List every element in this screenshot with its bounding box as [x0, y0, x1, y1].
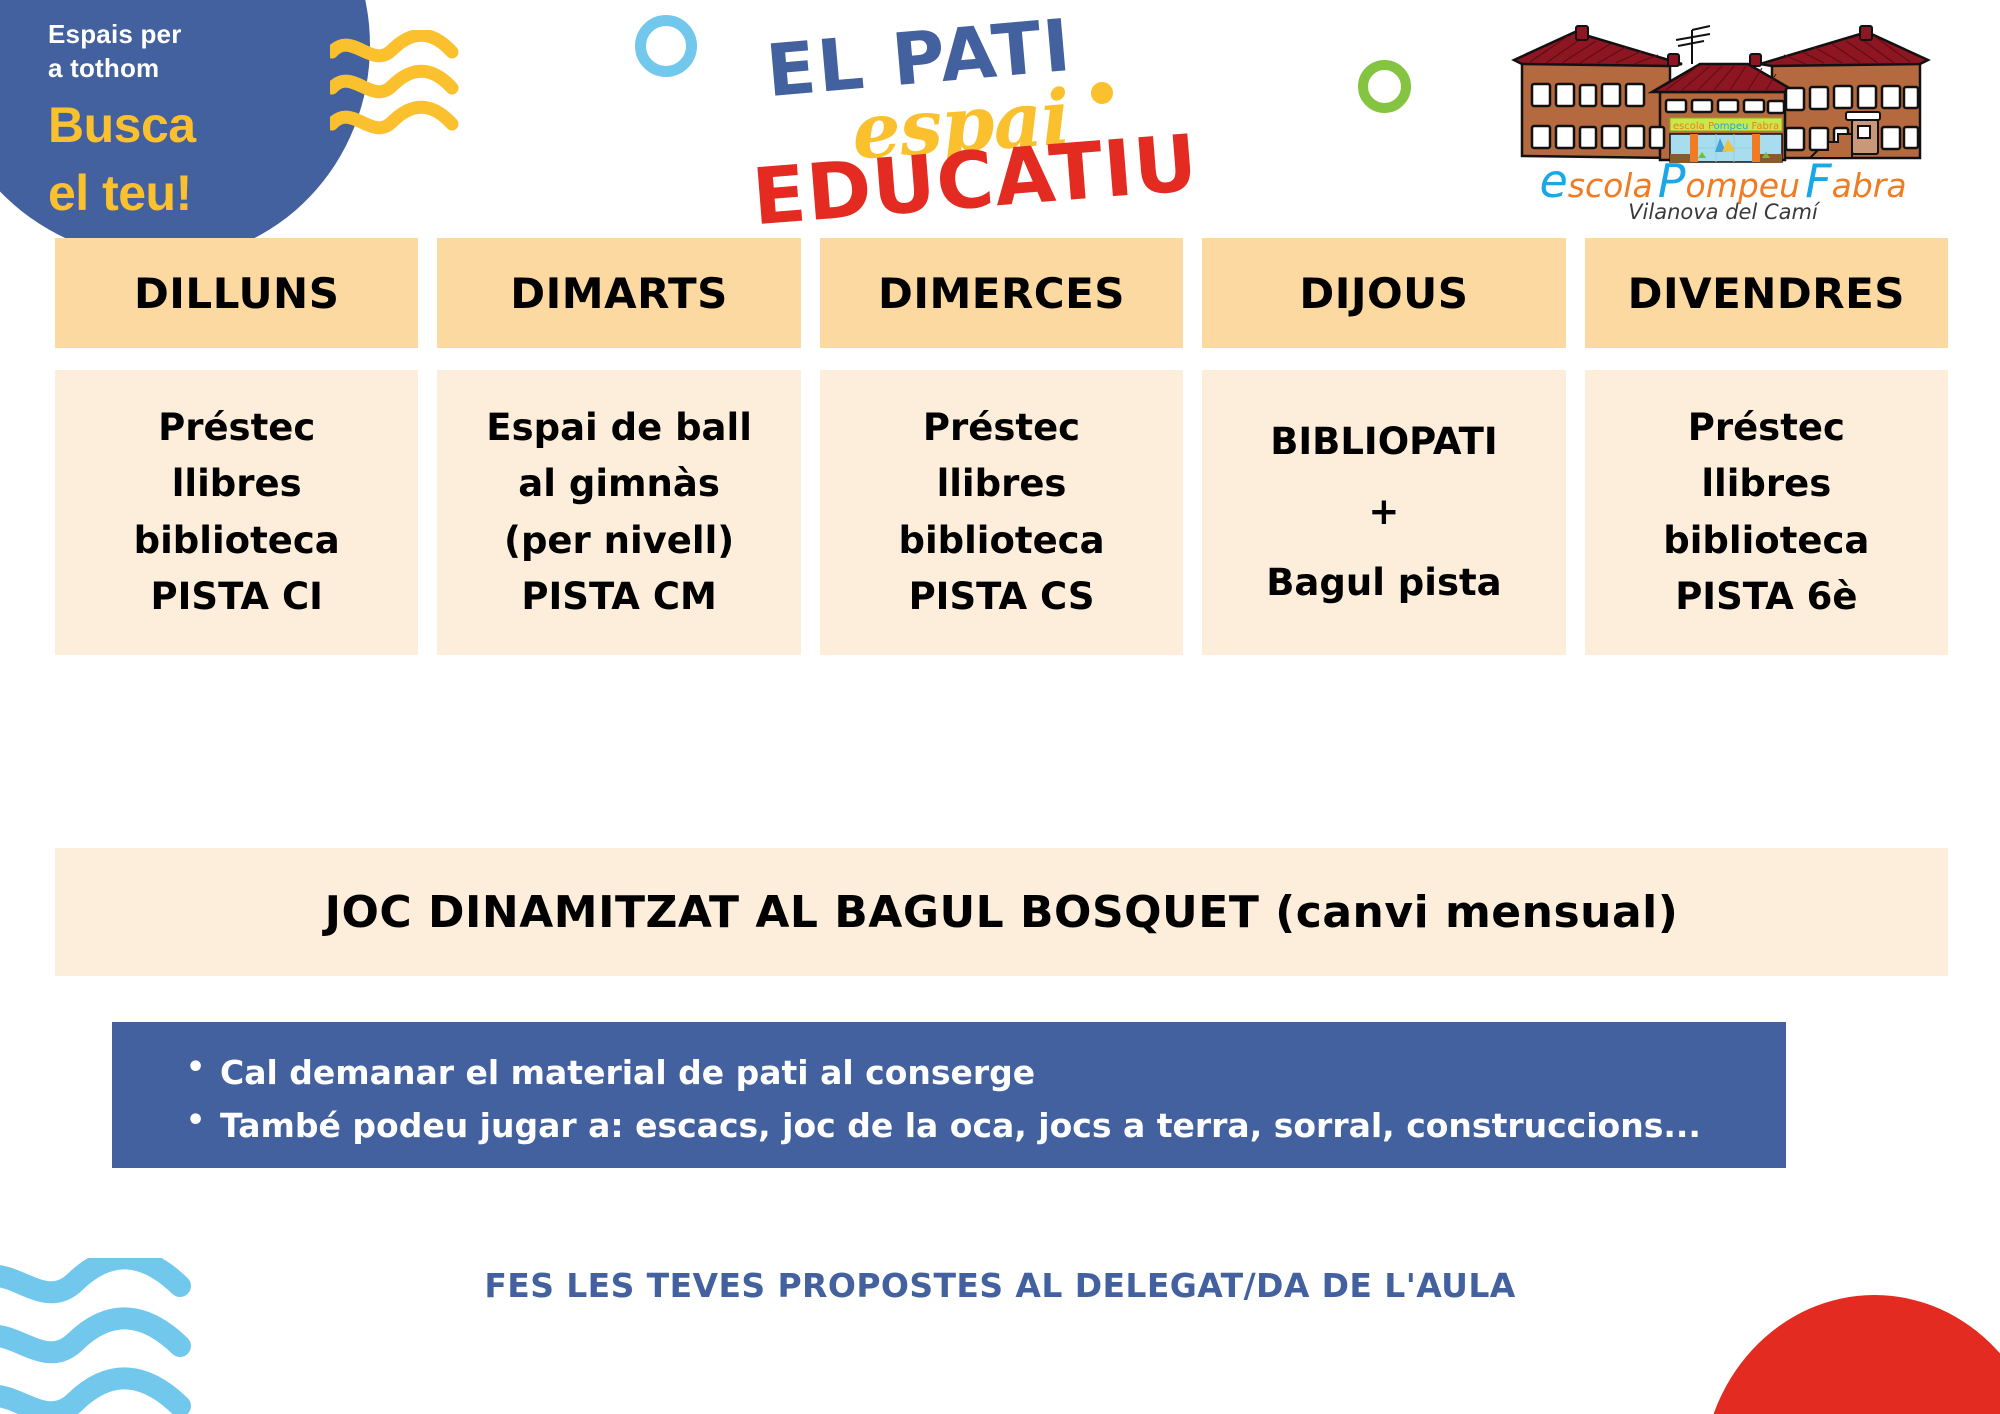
activity-line: biblioteca — [134, 513, 340, 569]
activity-line: biblioteca — [1663, 513, 1869, 569]
activity-line: (per nivell) — [486, 513, 752, 569]
activity-line: biblioteca — [898, 513, 1104, 569]
day-header-dimarts: DIMARTS — [437, 238, 800, 348]
weekly-schedule-grid: DILLUNS DIMARTS DIMERCES DIJOUS DIVENDRE… — [55, 238, 1948, 655]
footer-text: FES LES TEVES PROPOSTES AL DELEGAT/DA DE… — [484, 1266, 1515, 1305]
activity-line: Bagul pista — [1266, 548, 1501, 618]
day-header-dijous: DIJOUS — [1202, 238, 1565, 348]
school-logo: escola Pompeu Fabra — [1500, 8, 1940, 223]
activity-lines: Préstec llibres biblioteca PISTA CI — [134, 400, 340, 625]
day-header-label: DIMARTS — [510, 269, 728, 318]
building-sign-text: escola Pompeu Fabra — [1673, 121, 1779, 132]
day-header-label: DILLUNS — [134, 269, 340, 318]
activity-cell-dilluns: Préstec llibres biblioteca PISTA CI — [55, 370, 418, 655]
intro-caption: Espais per a tothom Busca el teu! — [48, 18, 328, 225]
activity-line: Espai de ball — [486, 400, 752, 456]
activity-line: PISTA 6è — [1663, 569, 1869, 625]
activity-lines: Préstec llibres biblioteca PISTA 6è — [1663, 400, 1869, 625]
activity-line: Préstec — [1663, 400, 1869, 456]
activity-lines: BIBLIOPATI + Bagul pista — [1266, 407, 1501, 618]
banner-text: JOC DINAMITZAT AL BAGUL BOSQUET (canvi m… — [325, 887, 1679, 938]
activity-line: PISTA CM — [486, 569, 752, 625]
activity-lines: Espai de ball al gimnàs (per nivell) PIS… — [486, 400, 752, 625]
poster-title: EL PATI espai EDUCATIU — [760, 8, 1230, 223]
logo-subtitle: Vilanova del Camí — [1508, 200, 1938, 224]
activity-line: PISTA CS — [898, 569, 1104, 625]
yellow-squiggle-icon — [330, 30, 520, 140]
schedule-activity-row: Préstec llibres biblioteca PISTA CI Espa… — [55, 370, 1948, 655]
day-header-divendres: DIVENDRES — [1585, 238, 1948, 348]
activity-line: llibres — [898, 456, 1104, 512]
list-item: També podeu jugar a: escacs, joc de la o… — [186, 1099, 1786, 1152]
notes-list: Cal demanar el material de pati al conse… — [112, 1046, 1786, 1153]
day-header-label: DIVENDRES — [1628, 269, 1905, 318]
blue-ring-icon — [635, 15, 697, 77]
intro-line-1: Espais per — [48, 19, 182, 49]
activity-cell-divendres: Préstec llibres biblioteca PISTA 6è — [1585, 370, 1948, 655]
notes-box: Cal demanar el material de pati al conse… — [112, 1022, 1786, 1168]
red-dome-decoration — [1702, 1295, 2000, 1414]
activity-cell-dimerces: Préstec llibres biblioteca PISTA CS — [820, 370, 1183, 655]
day-header-label: DIJOUS — [1299, 269, 1468, 318]
joc-dinamitzat-banner: JOC DINAMITZAT AL BAGUL BOSQUET (canvi m… — [55, 848, 1948, 976]
day-header-label: DIMERCES — [878, 269, 1125, 318]
activity-line: Préstec — [134, 400, 340, 456]
activity-line: + — [1266, 477, 1501, 547]
activity-line: al gimnàs — [486, 456, 752, 512]
intro-highlight-2: el teu! — [48, 162, 328, 225]
intro-highlight-1: Busca — [48, 97, 196, 153]
poster-canvas: Espais per a tothom Busca el teu! EL PAT… — [0, 0, 2000, 1414]
intro-line-2: a tothom — [48, 53, 159, 83]
schedule-header-row: DILLUNS DIMARTS DIMERCES DIJOUS DIVENDRE… — [55, 238, 1948, 348]
school-building-icon: escola Pompeu Fabra — [1500, 8, 1940, 168]
activity-cell-dimarts: Espai de ball al gimnàs (per nivell) PIS… — [437, 370, 800, 655]
day-header-dimerces: DIMERCES — [820, 238, 1183, 348]
blue-waves-decoration — [0, 1258, 350, 1414]
activity-line: llibres — [1663, 456, 1869, 512]
activity-line: llibres — [134, 456, 340, 512]
day-header-dilluns: DILLUNS — [55, 238, 418, 348]
activity-line: BIBLIOPATI — [1266, 407, 1501, 477]
title-dot-icon — [1090, 81, 1114, 105]
title-line-educatiu: EDUCATIU — [749, 119, 1201, 244]
activity-cell-dijous: BIBLIOPATI + Bagul pista — [1202, 370, 1565, 655]
green-ring-icon — [1358, 60, 1411, 113]
activity-line: Préstec — [898, 400, 1104, 456]
activity-line: PISTA CI — [134, 569, 340, 625]
activity-lines: Préstec llibres biblioteca PISTA CS — [898, 400, 1104, 625]
list-item: Cal demanar el material de pati al conse… — [186, 1046, 1786, 1099]
